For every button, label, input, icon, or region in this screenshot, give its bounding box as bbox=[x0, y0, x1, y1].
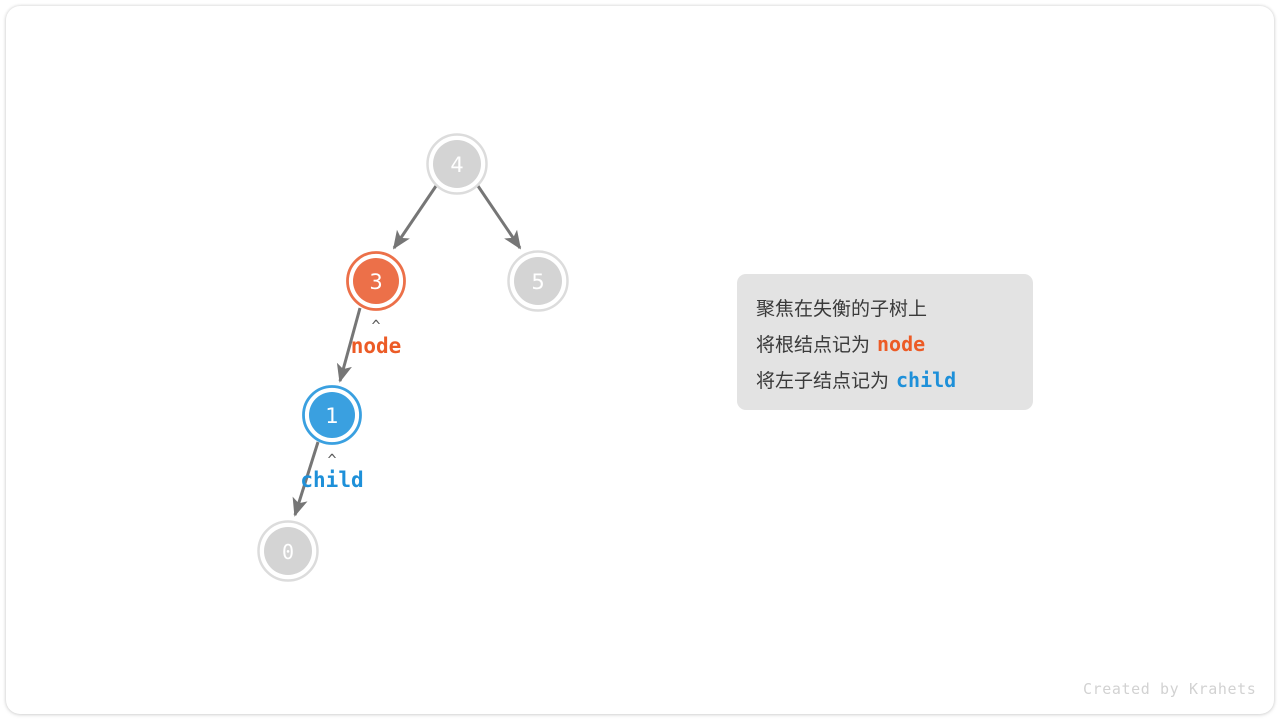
info-line-2: 将根结点记为node bbox=[756, 327, 1033, 363]
pointer-child-caret: ^ bbox=[327, 451, 336, 469]
pointer-node-caret: ^ bbox=[371, 317, 380, 335]
tree-diagram: 4 3 5 1 0 ^ node bbox=[6, 6, 1274, 714]
info-line-3-keyword: child bbox=[889, 368, 956, 392]
node-1-label: 1 bbox=[325, 404, 338, 428]
tree-node-1[interactable]: 1 bbox=[304, 387, 361, 444]
watermark-credit: Created by Krahets bbox=[1083, 680, 1256, 698]
info-line-3: 将左子结点记为child bbox=[756, 363, 1033, 399]
node-4-label: 4 bbox=[450, 153, 463, 177]
diagram-card: 4 3 5 1 0 ^ node bbox=[6, 6, 1274, 714]
info-line-1-text: 聚焦在失衡的子树上 bbox=[756, 298, 927, 320]
node-3-label: 3 bbox=[369, 270, 382, 294]
node-5-label: 5 bbox=[531, 270, 544, 294]
info-line-3-text: 将左子结点记为 bbox=[756, 370, 889, 392]
info-line-1: 聚焦在失衡的子树上 bbox=[756, 292, 1033, 327]
info-line-2-text: 将根结点记为 bbox=[756, 334, 870, 356]
pointer-child: ^ child bbox=[300, 451, 363, 492]
pointer-child-label: child bbox=[300, 468, 363, 492]
edge-4-3 bbox=[394, 186, 436, 248]
tree-node-3[interactable]: 3 bbox=[348, 253, 405, 310]
tree-node-5[interactable]: 5 bbox=[509, 252, 568, 311]
pointer-node: ^ node bbox=[351, 317, 402, 358]
edge-4-5 bbox=[478, 186, 520, 248]
tree-node-4[interactable]: 4 bbox=[428, 135, 487, 194]
tree-node-0[interactable]: 0 bbox=[259, 522, 318, 581]
pointer-node-label: node bbox=[351, 334, 402, 358]
info-panel: 聚焦在失衡的子树上 将根结点记为node 将左子结点记为child bbox=[737, 274, 1033, 410]
info-line-2-keyword: node bbox=[870, 332, 925, 356]
node-0-label: 0 bbox=[282, 540, 294, 564]
